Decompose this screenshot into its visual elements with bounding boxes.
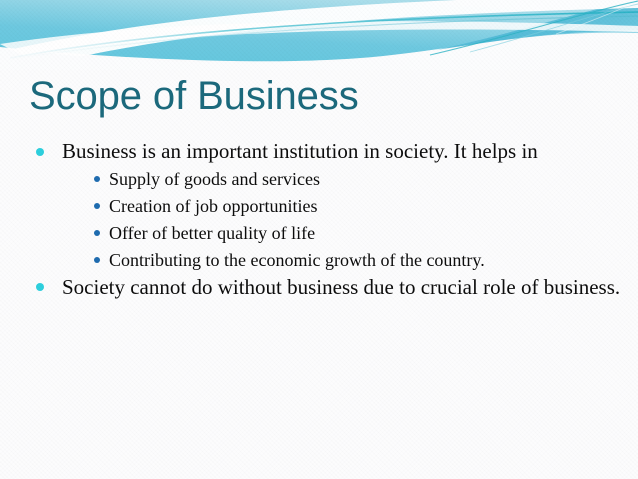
bullet-marker-level2-icon [94,176,100,182]
bullet-text-level2: Contributing to the economic growth of t… [109,250,485,270]
slide-header-wave-decoration [0,0,638,70]
list-item: Creation of job opportunities [94,193,637,220]
list-item: Offer of better quality of life [94,220,637,247]
list-item: Society cannot do without business due t… [33,274,637,301]
bullet-marker-level2-icon [94,203,100,209]
list-item: Contributing to the economic growth of t… [94,247,637,274]
bullet-marker-level2-icon [94,257,100,263]
bullet-text-level1: Society cannot do without business due t… [62,274,637,301]
list-item: Business is an important institution in … [33,138,637,274]
bullet-text-level2: Creation of job opportunities [109,196,317,216]
bullet-marker-level1-icon [36,148,44,156]
slide-body: Business is an important institution in … [0,138,638,300]
bullet-marker-level2-icon [94,230,100,236]
list-item: Supply of goods and services [94,166,637,193]
bullet-text-level2: Supply of goods and services [109,169,320,189]
bullet-list-level1: Business is an important institution in … [0,138,638,300]
presentation-slide: Scope of Business Business is an importa… [0,0,638,479]
slide-title: Scope of Business [29,74,359,118]
bullet-text-level2: Offer of better quality of life [109,223,315,243]
bullet-text-level1: Business is an important institution in … [62,138,637,165]
bullet-marker-level1-icon [36,283,44,291]
bullet-list-level2: Supply of goods and services Creation of… [62,166,637,274]
